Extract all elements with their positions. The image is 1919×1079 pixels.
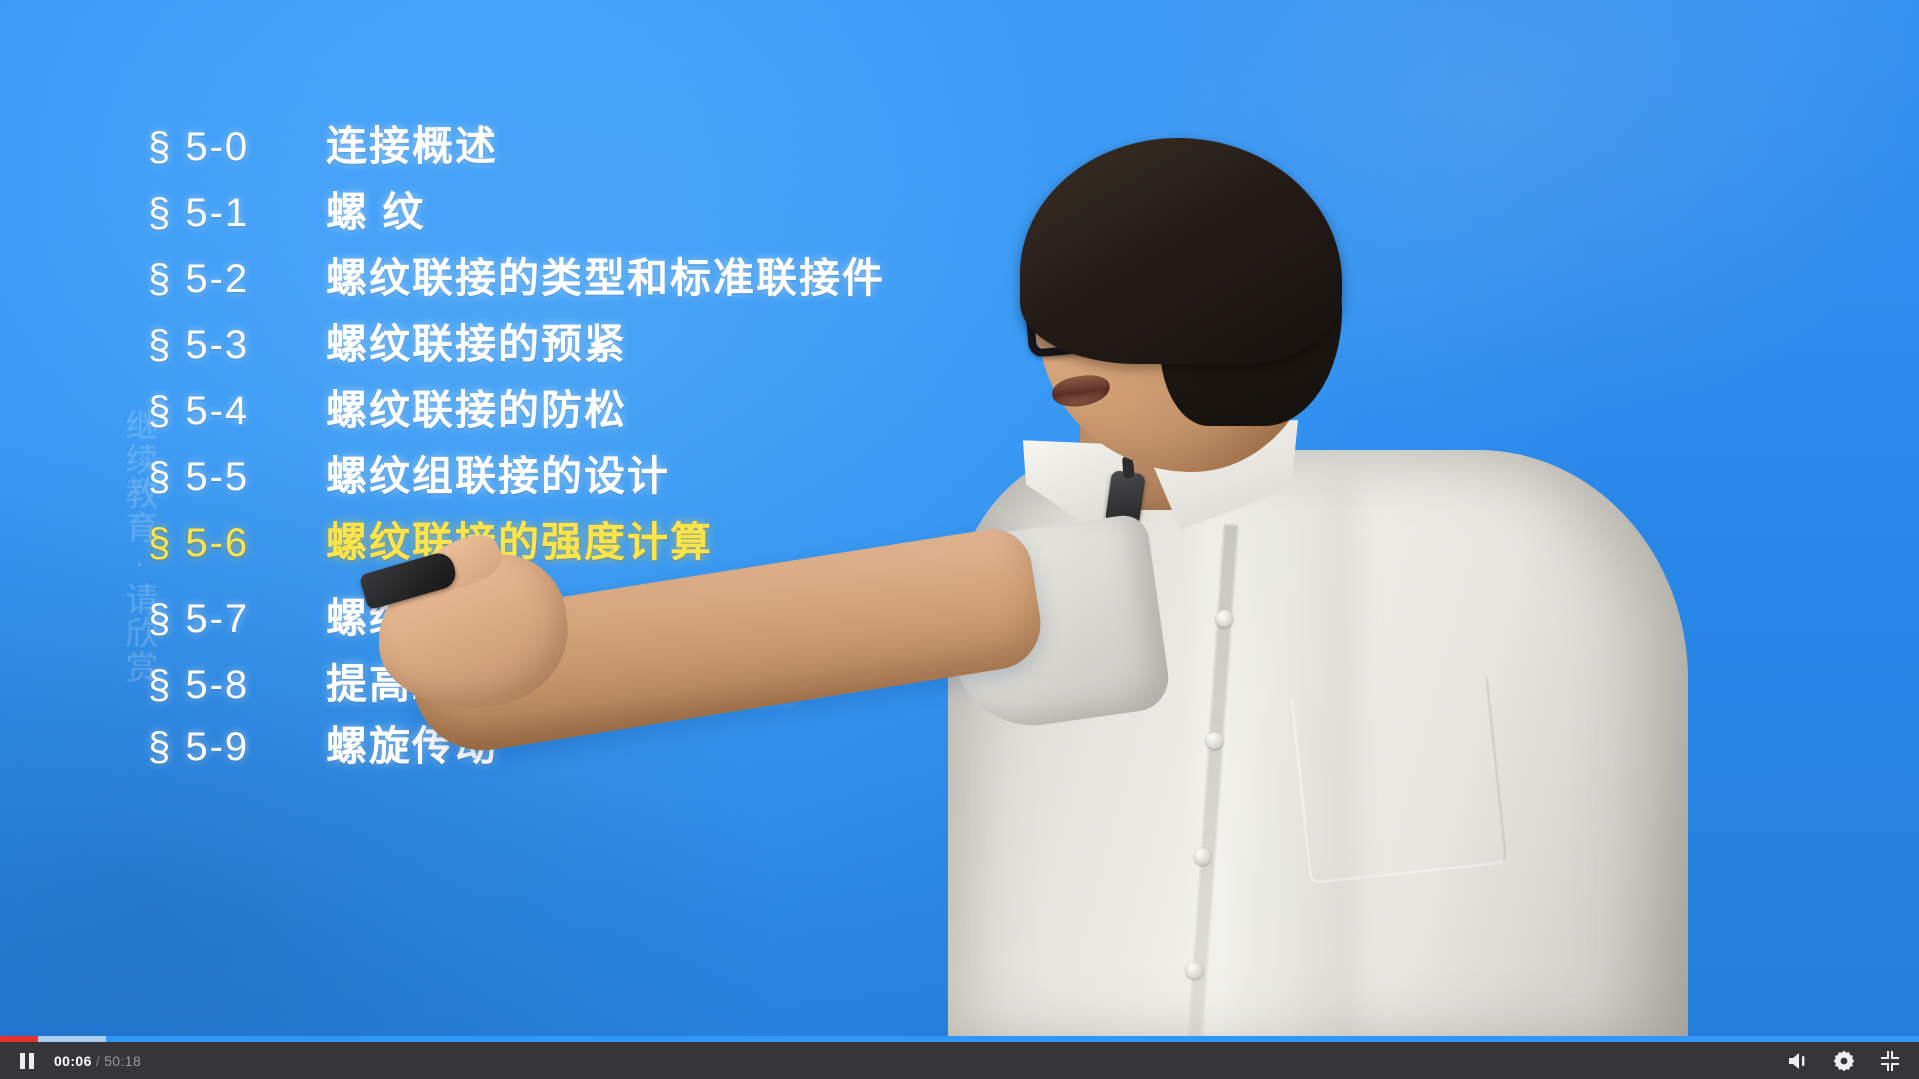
progress-bar-played bbox=[0, 1036, 38, 1042]
toc-number: § 5-5 bbox=[148, 455, 326, 500]
progress-bar-track[interactable] bbox=[0, 1036, 1919, 1042]
toc-number: § 5-1 bbox=[148, 191, 326, 236]
toc-title: 连接概述 bbox=[326, 112, 498, 172]
control-bar-right-group bbox=[1785, 1042, 1909, 1079]
toc-title: 提高螺栓联接强度的措施 bbox=[326, 650, 799, 710]
presenter-hair-back bbox=[1160, 178, 1342, 426]
toc-number: § 5-2 bbox=[148, 257, 326, 302]
exit-fullscreen-icon[interactable] bbox=[1877, 1048, 1903, 1074]
gear-icon[interactable] bbox=[1831, 1048, 1857, 1074]
shirt-collar-right bbox=[1130, 420, 1298, 530]
total-time: 50:18 bbox=[104, 1053, 141, 1069]
toc-title: 螺纹 bbox=[326, 584, 412, 644]
volume-icon[interactable] bbox=[1785, 1048, 1811, 1074]
toc-number: § 5-7 bbox=[148, 597, 326, 642]
shirt-button bbox=[1186, 962, 1203, 979]
time-display: 00:06/50:18 bbox=[54, 1053, 141, 1069]
video-player: 继续教育·请欣赏 § 5-0 连接概述 § 5-1 螺 纹 § 5-2 螺纹联接… bbox=[0, 0, 1919, 1079]
toc-row: § 5-3 螺纹联接的预紧 bbox=[148, 310, 1148, 376]
toc-number: § 5-0 bbox=[148, 125, 326, 170]
toc-row: § 5-0 连接概述 bbox=[148, 112, 1148, 178]
video-surface[interactable]: 继续教育·请欣赏 § 5-0 连接概述 § 5-1 螺 纹 § 5-2 螺纹联接… bbox=[0, 0, 1919, 1042]
toc-title: 螺纹联接的类型和标准联接件 bbox=[326, 244, 885, 304]
toc-title: 螺纹组联接的设计 bbox=[326, 442, 670, 502]
toc-number: § 5-4 bbox=[148, 389, 326, 434]
control-bar-left-group: 00:06/50:18 bbox=[0, 1048, 141, 1074]
toc-number: § 5-3 bbox=[148, 323, 326, 368]
shirt-fold bbox=[1198, 470, 1358, 1042]
slide-toc-list: § 5-0 连接概述 § 5-1 螺 纹 § 5-2 螺纹联接的类型和标准联接件… bbox=[148, 112, 1148, 774]
toc-row-highlighted: § 5-6 螺纹联接的强度计算 bbox=[148, 508, 1148, 574]
toc-row: § 5-7 螺纹 bbox=[148, 584, 1148, 650]
toc-row: § 5-2 螺纹联接的类型和标准联接件 bbox=[148, 244, 1148, 310]
shirt-pocket bbox=[1291, 678, 1507, 884]
shirt-button bbox=[1216, 610, 1233, 627]
shirt-button bbox=[1194, 848, 1211, 865]
current-time: 00:06 bbox=[54, 1053, 92, 1069]
pause-button[interactable] bbox=[14, 1048, 40, 1074]
toc-title: 螺 纹 bbox=[326, 178, 425, 238]
shirt-placket bbox=[1188, 524, 1238, 1042]
toc-row: § 5-1 螺 纹 bbox=[148, 178, 1148, 244]
toc-row: § 5-5 螺纹组联接的设计 bbox=[148, 442, 1148, 508]
toc-row: § 5-8 提高螺栓联接强度的措施 bbox=[148, 650, 1148, 712]
toc-number: § 5-9 bbox=[148, 725, 326, 770]
presenter-ear bbox=[1222, 296, 1280, 380]
toc-title: 螺纹联接的强度计算 bbox=[326, 508, 713, 568]
player-control-bar: 00:06/50:18 bbox=[0, 1042, 1919, 1079]
time-separator: / bbox=[96, 1053, 100, 1069]
toc-row: § 5-4 螺纹联接的防松 bbox=[148, 376, 1148, 442]
toc-title: 螺纹联接的防松 bbox=[326, 376, 627, 436]
eyeglasses-temple bbox=[1182, 269, 1286, 301]
toc-row: § 5-9 螺旋传动 bbox=[148, 712, 1148, 774]
toc-title: 螺旋传动 bbox=[326, 712, 498, 772]
toc-number: § 5-6 bbox=[148, 521, 326, 566]
toc-number: § 5-8 bbox=[148, 663, 326, 708]
toc-title: 螺纹联接的预紧 bbox=[326, 310, 627, 370]
shirt-button bbox=[1206, 732, 1223, 749]
